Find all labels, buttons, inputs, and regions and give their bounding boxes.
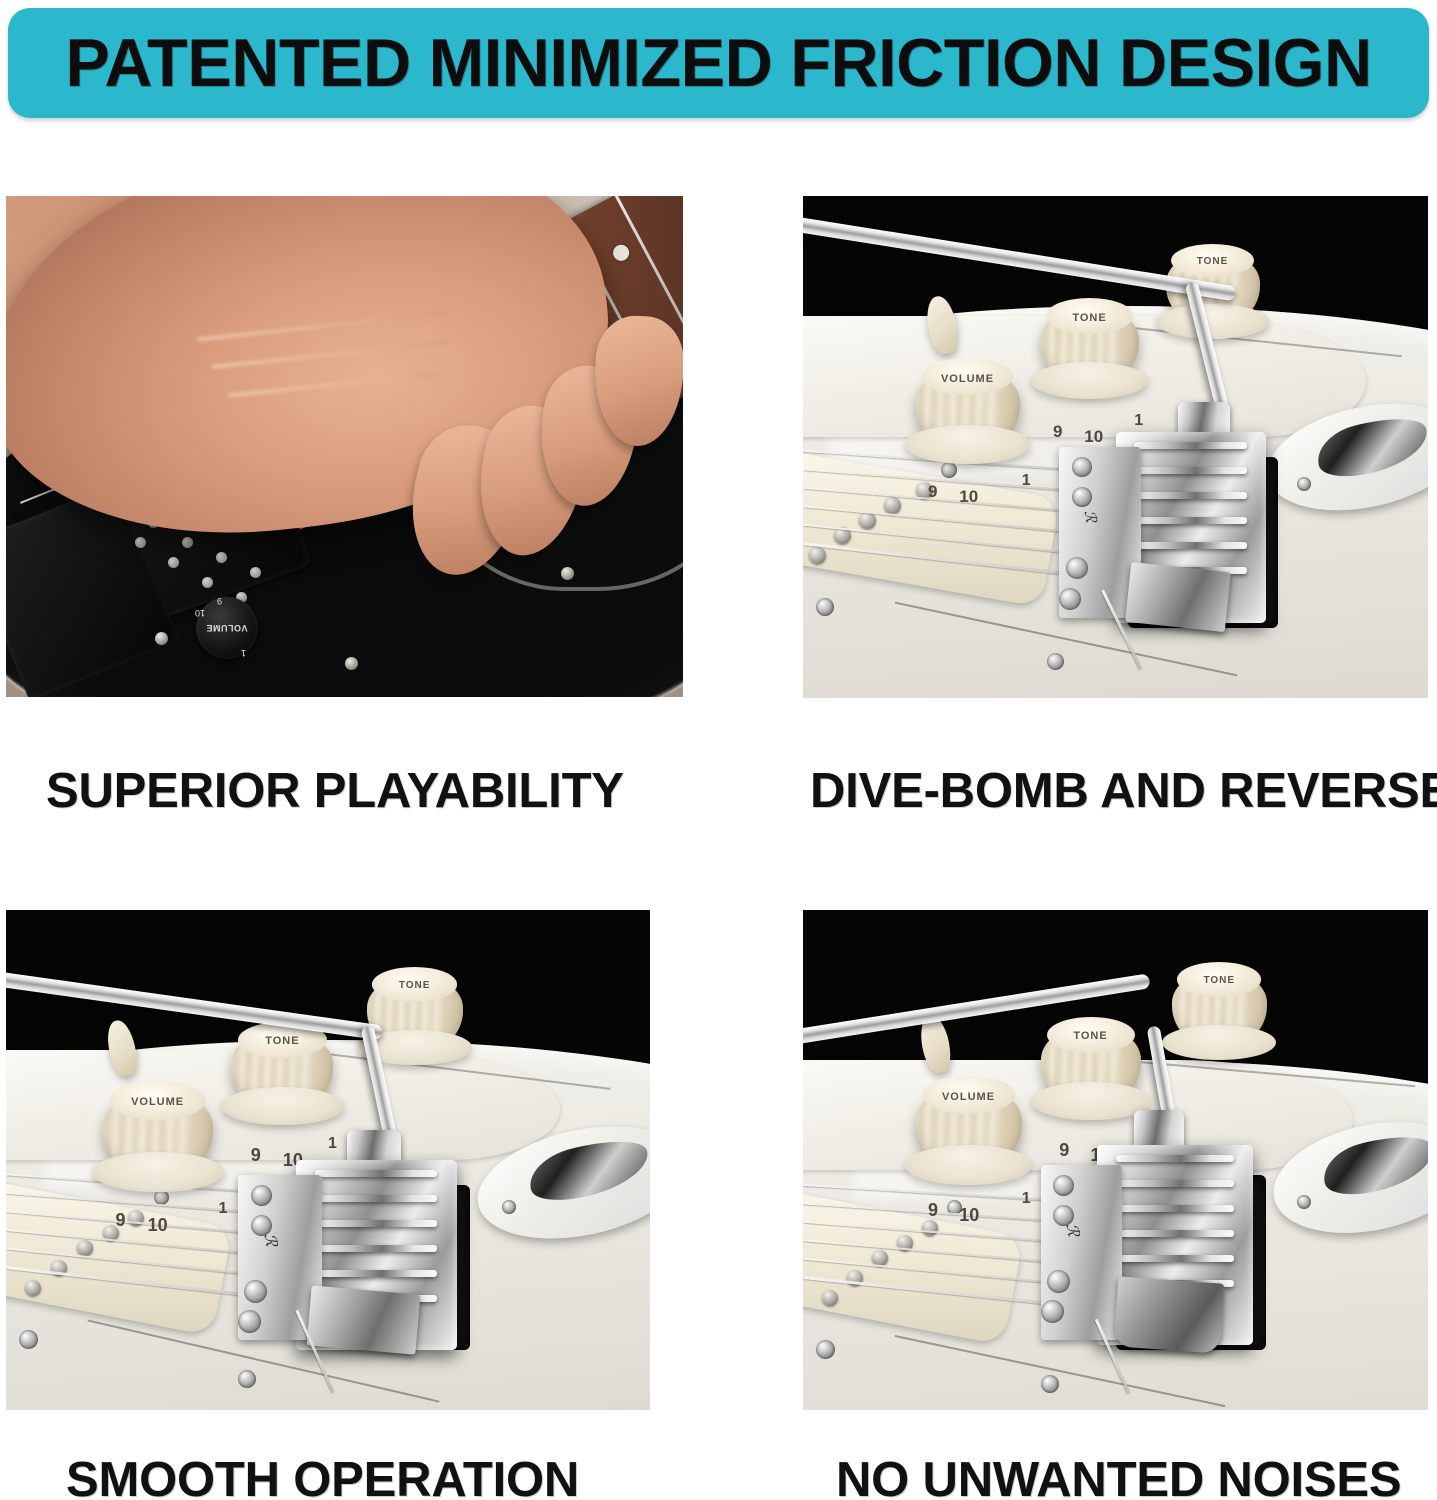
knob-number-9: 9 <box>1059 1140 1069 1161</box>
jack-plate-screw <box>1297 1195 1311 1209</box>
volume-knob-label: VOLUME <box>916 1091 1022 1103</box>
bridge-saddle <box>1116 1155 1235 1162</box>
tone-knob-2: TONE <box>1172 970 1267 1048</box>
knob-skirt <box>1031 1082 1151 1120</box>
bridge-saddle <box>1116 1205 1235 1212</box>
bridge-saddle <box>1134 542 1247 549</box>
knob-skirt <box>905 425 1030 464</box>
knob-number-10: 10 <box>959 1205 979 1226</box>
knob-number-1: 1 <box>328 1135 337 1153</box>
pickguard-screw <box>561 567 574 580</box>
pickup-mount-screw <box>816 598 834 616</box>
volume-knob: VOLUME <box>916 367 1020 451</box>
caption-smooth-operation: SMOOTH OPERATION <box>66 1452 579 1500</box>
bridge-saddle <box>315 1195 437 1202</box>
bridge-screw <box>1066 557 1088 579</box>
knob-number-9: 9 <box>1053 422 1062 442</box>
pickup-pole <box>216 552 227 563</box>
panel-image-smooth-operation: VOLUME 9 10 1 TONE 9 10 1 TONE <box>6 910 650 1410</box>
pickup-mount-screw <box>816 1340 835 1359</box>
pickguard-screw <box>345 657 358 670</box>
knob-number-9: 9 <box>115 1210 125 1231</box>
bridge-saddle <box>1116 1180 1235 1187</box>
jack-plate-screw <box>502 1200 516 1214</box>
panel-image-dive-bomb-and-reverse: VOLUME 9 10 1 TONE 9 10 1 TONE <box>803 196 1428 698</box>
bridge-saddle <box>1116 1255 1235 1262</box>
knob-number-1: 1 <box>1134 412 1143 430</box>
pickup-mount-screw <box>19 1330 38 1349</box>
bridge-screw <box>238 1310 261 1333</box>
pickup-pole <box>250 567 261 578</box>
tone-knob-label: TONE <box>1172 975 1267 986</box>
pickup-pole <box>182 537 193 548</box>
bridge-saddle <box>315 1220 437 1227</box>
tone-knob-1: TONE <box>1041 306 1139 386</box>
volume-knob: VOLUME <box>103 1090 213 1178</box>
bridge-saddle <box>315 1270 437 1277</box>
knob-tick-1: 1 <box>240 649 247 656</box>
bridge-saddle <box>315 1245 437 1252</box>
hand-tendon <box>212 340 448 369</box>
page-title: PATENTED MINIMIZED FRICTION DESIGN <box>65 24 1371 102</box>
white-guitar-scene: VOLUME 9 10 1 TONE 9 10 1 TONE <box>803 910 1428 1410</box>
hand-tendon <box>227 371 438 397</box>
knob-number-9: 9 <box>928 1200 938 1221</box>
fret-inlay-dot <box>611 242 633 264</box>
pickup-pole <box>135 537 146 548</box>
header-banner: PATENTED MINIMIZED FRICTION DESIGN <box>8 8 1429 118</box>
infographic-page: PATENTED MINIMIZED FRICTION DESIGN <box>0 0 1437 1500</box>
knob-number-10: 10 <box>959 487 978 507</box>
volume-knob: VOLUME 10 9 1 <box>196 597 258 659</box>
knob-skirt <box>221 1087 343 1125</box>
white-guitar-scene: VOLUME 9 10 1 TONE 9 10 1 TONE <box>6 910 650 1410</box>
bridge-screw <box>251 1185 272 1206</box>
knob-number-1: 1 <box>1022 472 1031 490</box>
tone-knob-1: TONE <box>1041 1025 1141 1107</box>
tone-knob-label: TONE <box>231 1035 333 1047</box>
caption-no-unwanted-noises: NO UNWANTED NOISES <box>836 1452 1401 1500</box>
bridge-saddle <box>315 1170 437 1177</box>
bridge-saddle <box>1134 442 1247 449</box>
tremolo-block <box>1125 562 1231 632</box>
bridge-screw <box>1059 588 1081 610</box>
tremolo-block <box>1113 1276 1224 1353</box>
bridge-screw <box>1053 1175 1074 1196</box>
volume-knob-scale: 10 9 1 <box>184 585 270 671</box>
tone-knob-label: TONE <box>1041 312 1139 324</box>
bridge-screw <box>1041 1300 1064 1323</box>
caption-dive-bomb-and-reverse: DIVE-BOMB AND REVERSE <box>810 763 1437 819</box>
knob-number-9: 9 <box>928 482 937 502</box>
arm-collar <box>1134 1110 1184 1150</box>
tremolo-block <box>306 1285 420 1354</box>
pickguard-screw <box>155 632 168 645</box>
volume-knob-label: VOLUME <box>103 1096 213 1108</box>
knob-number-10: 10 <box>1084 427 1103 447</box>
tone-knob-label: TONE <box>1166 256 1260 267</box>
knob-number-9: 9 <box>251 1145 261 1166</box>
pickguard-screw <box>1041 1375 1059 1393</box>
volume-knob-label: VOLUME <box>916 373 1020 385</box>
bridge-screw <box>1072 487 1092 507</box>
knob-skirt <box>905 1145 1032 1185</box>
pickup-mount-screw <box>941 462 957 478</box>
volume-knob: VOLUME <box>916 1085 1022 1171</box>
bridge-saddle <box>1134 492 1247 499</box>
hand-tendon <box>196 311 444 341</box>
bridge-screw <box>1047 1270 1070 1293</box>
knob-tick-9: 9 <box>216 597 223 604</box>
caption-superior-playability: SUPERIOR PLAYABILITY <box>46 763 624 819</box>
tone-knob-label: TONE <box>367 980 463 991</box>
pickup-pole <box>822 1290 838 1306</box>
tone-knob-2: TONE <box>367 975 463 1053</box>
knob-tick-10: 10 <box>198 609 205 616</box>
knob-number-1: 1 <box>1022 1190 1031 1208</box>
pickguard-screw <box>1047 653 1064 670</box>
bridge-saddle <box>1134 467 1247 474</box>
knob-skirt <box>92 1152 224 1192</box>
knob-number-1: 1 <box>219 1200 228 1218</box>
knob-number-10: 10 <box>148 1215 168 1236</box>
tone-knob-label: TONE <box>1041 1030 1141 1042</box>
jack-plate-screw <box>1297 477 1311 491</box>
pickup-pole <box>77 1240 93 1256</box>
panel-image-superior-playability: VOLUME 10 9 1 <box>6 196 683 697</box>
pickup-pole <box>922 1220 938 1236</box>
bridge-screw <box>1072 457 1092 477</box>
pickguard-screw <box>238 1370 256 1388</box>
knob-skirt <box>1031 362 1149 399</box>
bridge-saddle <box>1134 517 1247 524</box>
tone-knob-1: TONE <box>231 1030 333 1112</box>
bridge-saddle <box>1116 1230 1235 1237</box>
white-guitar-scene: VOLUME 9 10 1 TONE 9 10 1 TONE <box>803 196 1428 698</box>
panel-image-no-unwanted-noises: VOLUME 9 10 1 TONE 9 10 1 TONE <box>803 910 1428 1410</box>
